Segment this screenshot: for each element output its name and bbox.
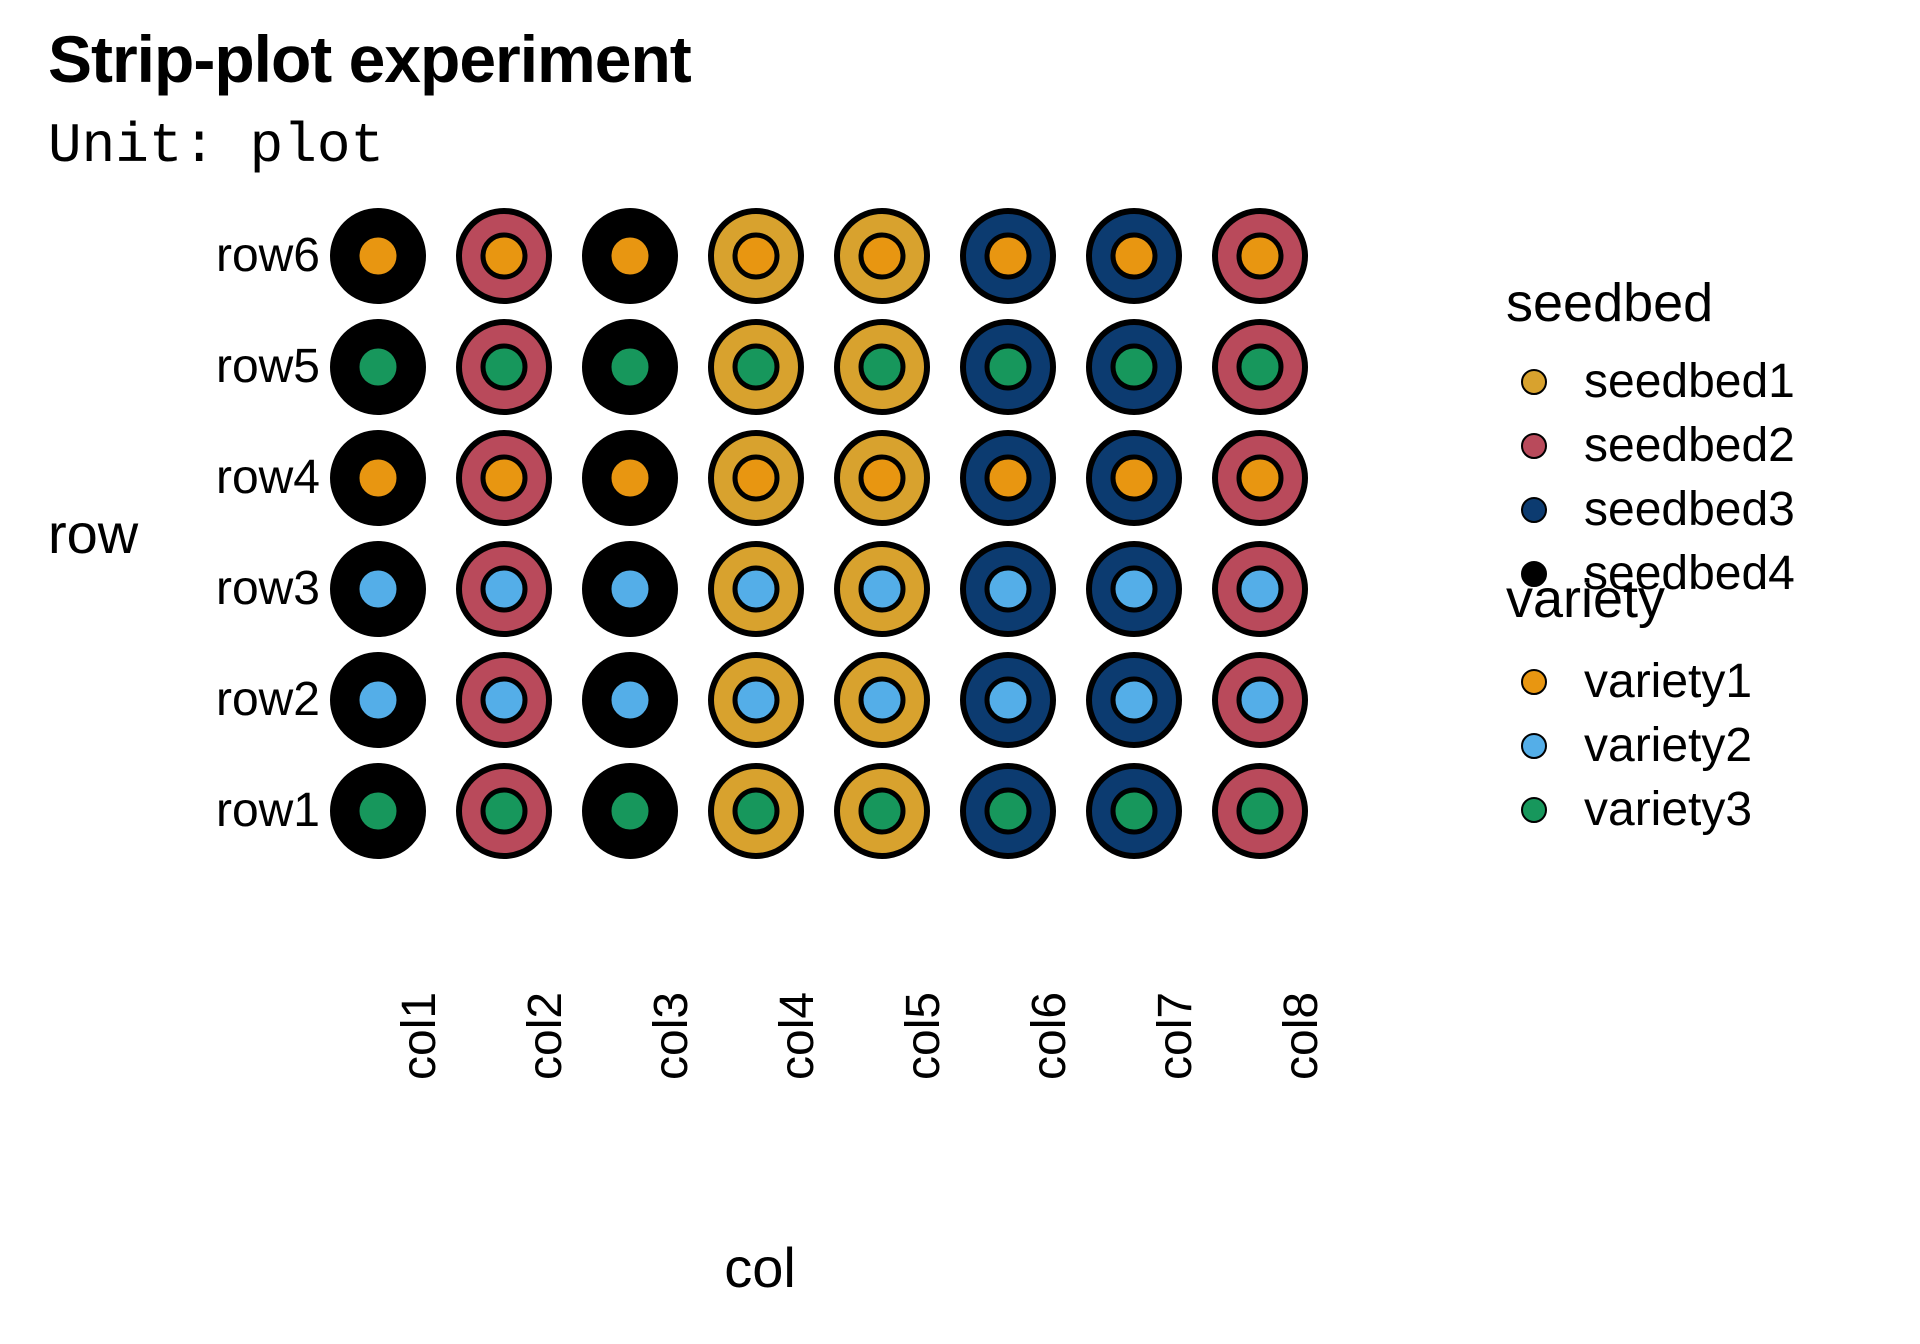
variety-marker (357, 235, 399, 277)
plot-cell-row4-col6 (958, 428, 1058, 528)
plot-cell-row2-col8 (1210, 650, 1310, 750)
plot-cell-row5-col1 (328, 317, 428, 417)
variety-marker (861, 790, 903, 832)
plot-cell-row2-col1 (328, 650, 428, 750)
variety-marker (1239, 235, 1281, 277)
variety-marker (1113, 235, 1155, 277)
legend-item-variety2[interactable]: variety2 (1512, 724, 1752, 768)
variety-marker (609, 568, 651, 610)
y-tick-row5: row5 (150, 343, 320, 391)
y-axis-title: row (48, 506, 138, 562)
legend-swatch-seedbed2 (1512, 431, 1556, 461)
plot-cell-row5-col7 (1084, 317, 1184, 417)
plot-cell-row1-col8 (1210, 761, 1310, 861)
y-tick-row6: row6 (150, 232, 320, 280)
plot-cell-row2-col2 (454, 650, 554, 750)
plot-cell-row3-col1 (328, 539, 428, 639)
variety-marker (1113, 457, 1155, 499)
plot-cell-row2-col7 (1084, 650, 1184, 750)
plot-cell-row1-col5 (832, 761, 932, 861)
plot-cell-row6-col6 (958, 206, 1058, 306)
plot-cell-row6-col7 (1084, 206, 1184, 306)
plot-cell-row3-col5 (832, 539, 932, 639)
legend-label-seedbed3: seedbed3 (1584, 486, 1795, 534)
variety-marker (1239, 790, 1281, 832)
variety-marker (735, 568, 777, 610)
legend-item-seedbed2[interactable]: seedbed2 (1512, 424, 1795, 468)
variety-marker (357, 568, 399, 610)
x-axis-title: col (724, 1240, 796, 1296)
x-tick-col8: col8 (1278, 992, 1326, 1080)
plot-cell-row5-col8 (1210, 317, 1310, 417)
variety-marker (735, 679, 777, 721)
plot-cell-row4-col3 (580, 428, 680, 528)
legend-swatch-variety1 (1512, 667, 1556, 697)
legend-label-variety2: variety2 (1584, 722, 1752, 770)
legend-title-seedbed: seedbed (1506, 276, 1713, 330)
plot-cell-row6-col5 (832, 206, 932, 306)
variety-marker (483, 235, 525, 277)
plot-cell-row6-col2 (454, 206, 554, 306)
variety-marker (861, 457, 903, 499)
variety-marker (357, 679, 399, 721)
variety-marker (735, 790, 777, 832)
variety-marker (1239, 457, 1281, 499)
y-tick-row1: row1 (150, 787, 320, 835)
plot-cell-row6-col3 (580, 206, 680, 306)
x-tick-col5: col5 (900, 992, 948, 1080)
plot-cell-row2-col6 (958, 650, 1058, 750)
x-tick-col3: col3 (648, 992, 696, 1080)
variety-marker (609, 679, 651, 721)
legend-item-seedbed1[interactable]: seedbed1 (1512, 360, 1795, 404)
plot-cell-row3-col4 (706, 539, 806, 639)
plot-cell-row5-col5 (832, 317, 932, 417)
variety-marker (357, 457, 399, 499)
y-tick-row3: row3 (150, 565, 320, 613)
legend-swatch-seedbed1 (1512, 367, 1556, 397)
variety-marker (1113, 790, 1155, 832)
legend-swatch-variety3 (1512, 795, 1556, 825)
variety-marker (609, 235, 651, 277)
legend-item-seedbed3[interactable]: seedbed3 (1512, 488, 1795, 532)
variety-marker (987, 457, 1029, 499)
variety-marker (987, 235, 1029, 277)
plot-cell-row2-col3 (580, 650, 680, 750)
plot-cell-row6-col8 (1210, 206, 1310, 306)
plot-cell-row4-col8 (1210, 428, 1310, 528)
x-tick-col6: col6 (1026, 992, 1074, 1080)
variety-marker (1113, 346, 1155, 388)
plot-cell-row1-col7 (1084, 761, 1184, 861)
variety-marker (1113, 679, 1155, 721)
plot-cell-row5-col2 (454, 317, 554, 417)
legend-item-variety1[interactable]: variety1 (1512, 660, 1752, 704)
x-tick-col7: col7 (1152, 992, 1200, 1080)
variety-marker (861, 679, 903, 721)
x-tick-col2: col2 (522, 992, 570, 1080)
y-tick-row4: row4 (150, 454, 320, 502)
variety-marker (861, 235, 903, 277)
variety-marker (357, 790, 399, 832)
variety-marker (483, 568, 525, 610)
plot-cell-row1-col6 (958, 761, 1058, 861)
x-tick-col4: col4 (774, 992, 822, 1080)
plot-cell-row3-col7 (1084, 539, 1184, 639)
plot-cell-row5-col3 (580, 317, 680, 417)
y-tick-row2: row2 (150, 676, 320, 724)
variety-marker (987, 568, 1029, 610)
variety-marker (483, 790, 525, 832)
variety-marker (1113, 568, 1155, 610)
plot-cell-row5-col4 (706, 317, 806, 417)
plot-cell-row3-col6 (958, 539, 1058, 639)
variety-marker (483, 346, 525, 388)
legend-label-variety1: variety1 (1584, 658, 1752, 706)
variety-marker (357, 346, 399, 388)
variety-marker (609, 346, 651, 388)
variety-marker (735, 457, 777, 499)
plot-cell-row4-col2 (454, 428, 554, 528)
variety-marker (735, 346, 777, 388)
plot-cell-row2-col5 (832, 650, 932, 750)
plot-cell-row4-col7 (1084, 428, 1184, 528)
legend-item-variety3[interactable]: variety3 (1512, 788, 1752, 832)
variety-marker (1239, 568, 1281, 610)
legend-label-variety3: variety3 (1584, 786, 1752, 834)
variety-marker (987, 346, 1029, 388)
plot-cell-row3-col3 (580, 539, 680, 639)
plot-cell-row6-col4 (706, 206, 806, 306)
variety-marker (987, 790, 1029, 832)
plot-cell-row1-col1 (328, 761, 428, 861)
plot-cell-row1-col3 (580, 761, 680, 861)
legend-swatch-variety2 (1512, 731, 1556, 761)
variety-marker (861, 568, 903, 610)
variety-marker (483, 457, 525, 499)
legend-swatch-seedbed3 (1512, 495, 1556, 525)
variety-marker (861, 346, 903, 388)
plot-cell-row6-col1 (328, 206, 428, 306)
variety-marker (609, 457, 651, 499)
variety-marker (987, 679, 1029, 721)
legend-label-seedbed2: seedbed2 (1584, 422, 1795, 470)
plot-cell-row4-col5 (832, 428, 932, 528)
variety-marker (735, 235, 777, 277)
variety-marker (1239, 679, 1281, 721)
plot-cell-row3-col2 (454, 539, 554, 639)
plot-cell-row1-col4 (706, 761, 806, 861)
plot-cell-row4-col1 (328, 428, 428, 528)
plot-cell-row1-col2 (454, 761, 554, 861)
plot-cell-row3-col8 (1210, 539, 1310, 639)
plot-cell-row5-col6 (958, 317, 1058, 417)
legend-label-seedbed1: seedbed1 (1584, 358, 1795, 406)
variety-marker (609, 790, 651, 832)
variety-marker (483, 679, 525, 721)
variety-marker (1239, 346, 1281, 388)
legend-title-variety: variety (1506, 572, 1665, 626)
x-tick-col1: col1 (396, 992, 444, 1080)
plot-cell-row4-col4 (706, 428, 806, 528)
plot-cell-row2-col4 (706, 650, 806, 750)
